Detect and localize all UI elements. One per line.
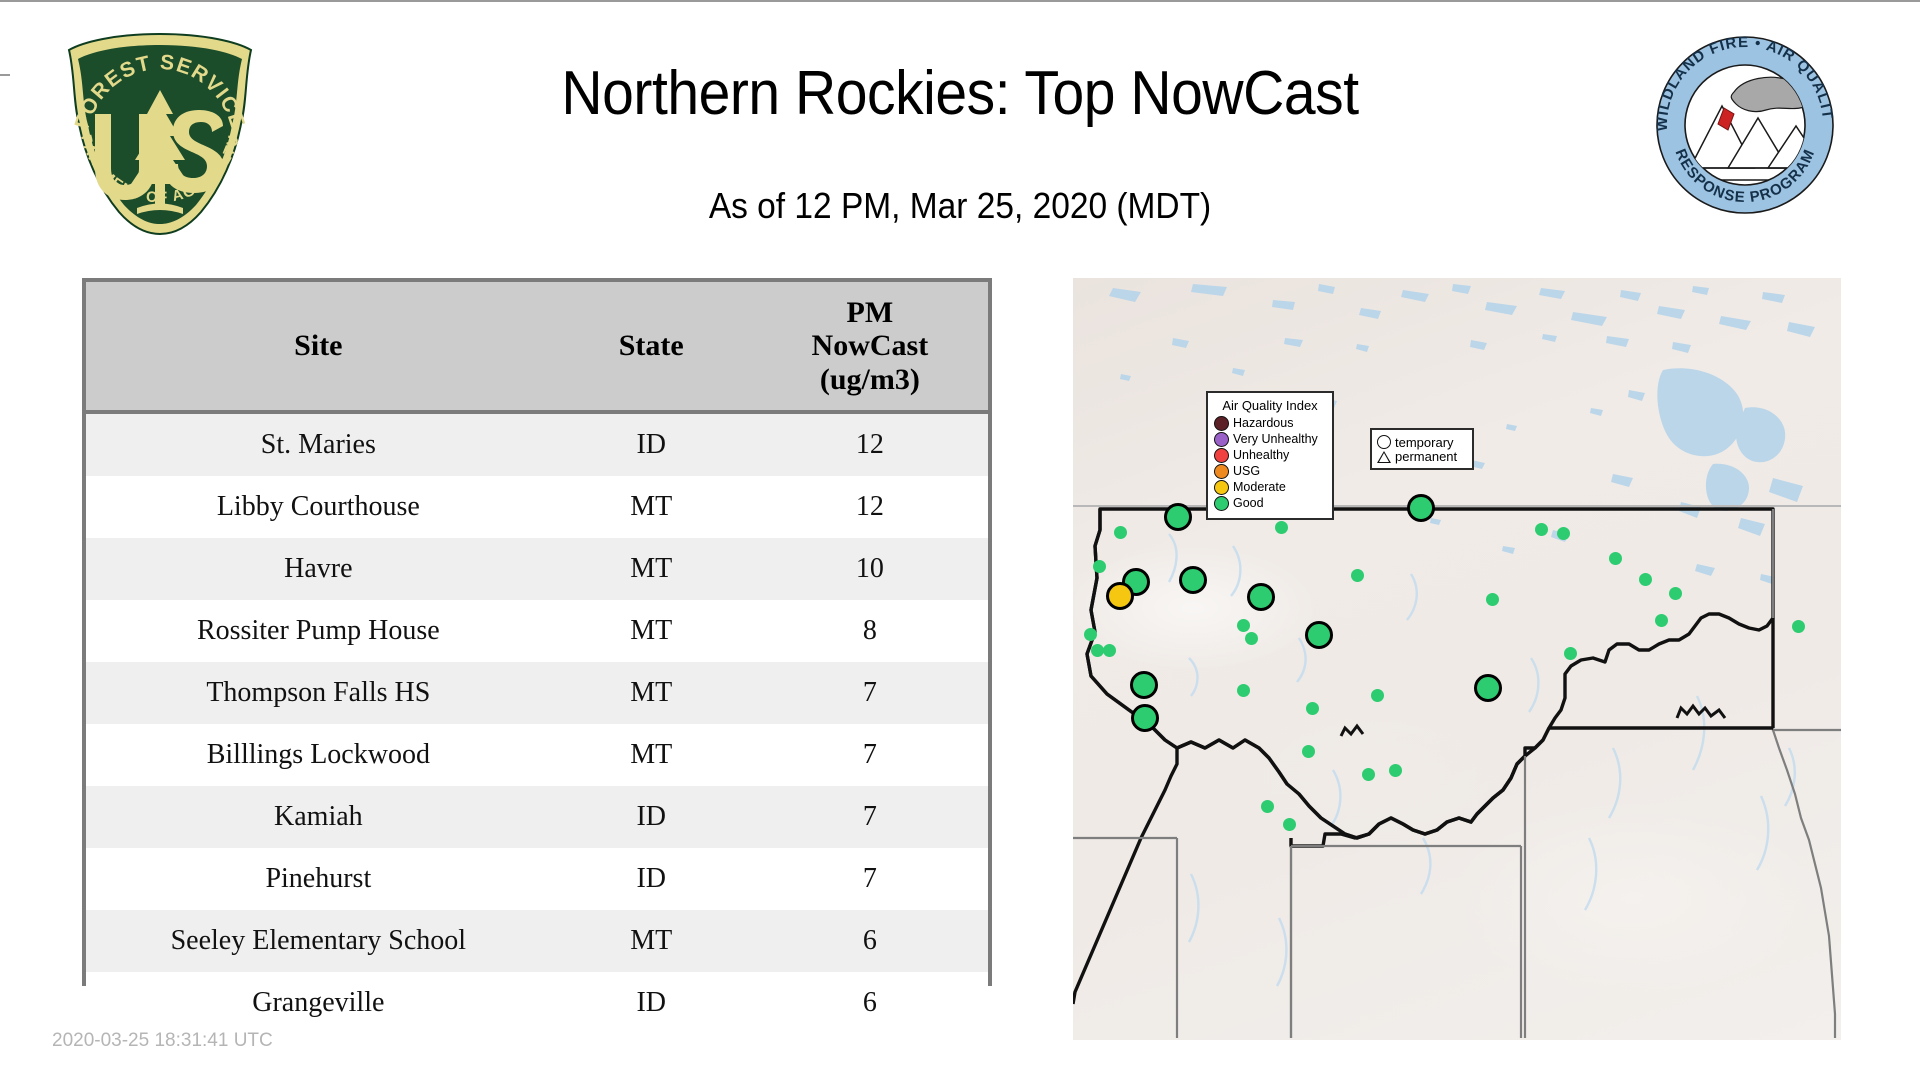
table-row: Billlings LockwoodMT7 <box>86 724 988 786</box>
table-row: PinehurstID7 <box>86 848 988 910</box>
temporary-monitor-icon <box>1377 435 1391 449</box>
cell-state: MT <box>551 662 752 724</box>
table-row: Rossiter Pump HouseMT8 <box>86 600 988 662</box>
monitor-marker[interactable] <box>1247 583 1275 611</box>
monitor-marker[interactable] <box>1407 494 1435 522</box>
column-header-state: State <box>551 282 752 412</box>
aqi-legend-item: Unhealthy <box>1214 448 1326 463</box>
monitor-marker[interactable] <box>1351 569 1364 582</box>
monitor-marker[interactable] <box>1306 702 1319 715</box>
cell-state: MT <box>551 476 752 538</box>
map-geography-layer <box>1073 278 1841 1040</box>
cell-site: Thompson Falls HS <box>86 662 551 724</box>
cell-pm: 8 <box>752 600 988 662</box>
monitor-marker[interactable] <box>1655 614 1668 627</box>
cell-state: ID <box>551 786 752 848</box>
monitor-marker[interactable] <box>1389 764 1402 777</box>
aqi-legend-label: Moderate <box>1233 481 1286 494</box>
monitor-marker[interactable] <box>1535 523 1548 536</box>
monitor-marker[interactable] <box>1131 704 1159 732</box>
monitor-marker[interactable] <box>1474 674 1502 702</box>
monitor-marker[interactable] <box>1305 621 1333 649</box>
page-title: Northern Rockies: Top NowCast <box>353 58 1567 129</box>
aqi-swatch-icon <box>1214 448 1229 463</box>
aqi-legend: Air Quality Index HazardousVery Unhealth… <box>1206 391 1334 520</box>
cell-pm: 6 <box>752 972 988 1034</box>
monitor-marker[interactable] <box>1486 593 1499 606</box>
aqi-legend-title: Air Quality Index <box>1214 398 1326 413</box>
aqi-swatch-icon <box>1214 464 1229 479</box>
cell-pm: 7 <box>752 724 988 786</box>
monitor-marker[interactable] <box>1091 644 1104 657</box>
air-quality-map[interactable]: Air Quality Index HazardousVery Unhealth… <box>1073 278 1841 1040</box>
monitor-marker[interactable] <box>1093 560 1106 573</box>
monitor-marker[interactable] <box>1609 552 1622 565</box>
legend-temporary-row: temporary <box>1377 435 1467 449</box>
cell-site: Kamiah <box>86 786 551 848</box>
monitor-marker[interactable] <box>1362 768 1375 781</box>
cell-pm: 7 <box>752 662 988 724</box>
table-row: Libby CourthouseMT12 <box>86 476 988 538</box>
cell-site: Grangeville <box>86 972 551 1034</box>
aqi-legend-item: USG <box>1214 464 1326 479</box>
cell-state: ID <box>551 412 752 476</box>
legend-permanent-row: permanent <box>1377 450 1467 463</box>
cell-site: Billlings Lockwood <box>86 724 551 786</box>
cell-pm: 6 <box>752 910 988 972</box>
table-body: St. MariesID12Libby CourthouseMT12HavreM… <box>86 412 988 1034</box>
aqi-legend-label: Hazardous <box>1233 417 1293 430</box>
aqi-legend-label: USG <box>1233 465 1260 478</box>
monitor-marker[interactable] <box>1669 587 1682 600</box>
monitor-marker[interactable] <box>1275 521 1288 534</box>
monitor-marker[interactable] <box>1130 671 1158 699</box>
aqi-legend-label: Very Unhealthy <box>1233 433 1318 446</box>
monitor-marker[interactable] <box>1302 745 1315 758</box>
cell-state: ID <box>551 848 752 910</box>
aqi-legend-item: Hazardous <box>1214 416 1326 431</box>
aqi-swatch-icon <box>1214 496 1229 511</box>
monitor-marker[interactable] <box>1179 566 1207 594</box>
aqi-legend-label: Good <box>1233 497 1264 510</box>
cell-site: Havre <box>86 538 551 600</box>
permanent-monitor-icon <box>1377 451 1391 463</box>
aqi-legend-rows: HazardousVery UnhealthyUnhealthyUSGModer… <box>1214 416 1326 511</box>
monitor-marker[interactable] <box>1237 684 1250 697</box>
cell-state: MT <box>551 724 752 786</box>
column-header-pm-line3: (ug/m3) <box>756 363 984 397</box>
column-header-pm-nowcast: PM NowCast (ug/m3) <box>752 282 988 412</box>
cell-site: Seeley Elementary School <box>86 910 551 972</box>
monitor-marker[interactable] <box>1084 628 1097 641</box>
monitor-marker[interactable] <box>1639 573 1652 586</box>
legend-permanent-label: permanent <box>1395 450 1457 463</box>
column-header-pm-line2: NowCast <box>756 329 984 363</box>
cell-site: St. Maries <box>86 412 551 476</box>
aqi-legend-item: Very Unhealthy <box>1214 432 1326 447</box>
table-header-row: Site State PM NowCast (ug/m3) <box>86 282 988 412</box>
monitor-marker[interactable] <box>1371 689 1384 702</box>
cell-site: Pinehurst <box>86 848 551 910</box>
cell-state: MT <box>551 600 752 662</box>
monitor-marker[interactable] <box>1792 620 1805 633</box>
table-row: HavreMT10 <box>86 538 988 600</box>
column-header-pm-line1: PM <box>756 296 984 330</box>
monitor-marker[interactable] <box>1261 800 1274 813</box>
usfs-shield-logo: FOREST SERVICE DEPARTMENT OF AGRICULTURE <box>55 28 265 238</box>
monitor-type-legend: temporary permanent <box>1370 428 1474 470</box>
cell-pm: 12 <box>752 476 988 538</box>
monitor-marker[interactable] <box>1283 818 1296 831</box>
table-row: St. MariesID12 <box>86 412 988 476</box>
top-nowcast-table: Site State PM NowCast (ug/m3) St. Maries… <box>82 278 992 986</box>
aqi-legend-item: Moderate <box>1214 480 1326 495</box>
cell-state: ID <box>551 972 752 1034</box>
generation-timestamp: 2020-03-25 18:31:41 UTC <box>52 1030 273 1052</box>
cell-pm: 10 <box>752 538 988 600</box>
legend-temporary-label: temporary <box>1395 436 1454 449</box>
monitor-marker[interactable] <box>1164 503 1192 531</box>
monitor-marker[interactable] <box>1114 526 1127 539</box>
cell-state: MT <box>551 538 752 600</box>
monitor-marker[interactable] <box>1106 582 1134 610</box>
column-header-site: Site <box>86 282 551 412</box>
cell-site: Libby Courthouse <box>86 476 551 538</box>
table-row: Seeley Elementary SchoolMT6 <box>86 910 988 972</box>
monitor-marker[interactable] <box>1245 632 1258 645</box>
aqi-swatch-icon <box>1214 432 1229 447</box>
monitor-marker[interactable] <box>1237 619 1250 632</box>
monitor-marker[interactable] <box>1103 644 1116 657</box>
aqi-swatch-icon <box>1214 416 1229 431</box>
table-row: GrangevilleID6 <box>86 972 988 1034</box>
cell-pm: 7 <box>752 786 988 848</box>
aqi-legend-label: Unhealthy <box>1233 449 1289 462</box>
monitor-marker[interactable] <box>1564 647 1577 660</box>
cell-site: Rossiter Pump House <box>86 600 551 662</box>
cell-pm: 12 <box>752 412 988 476</box>
page-subtitle: As of 12 PM, Mar 25, 2020 (MDT) <box>346 185 1574 227</box>
wfaqrp-logo: WILDLAND FIRE • AIR QUALITY RESPONSE PRO… <box>1650 30 1840 220</box>
aqi-legend-item: Good <box>1214 496 1326 511</box>
table-row: Thompson Falls HSMT7 <box>86 662 988 724</box>
page-header: FOREST SERVICE DEPARTMENT OF AGRICULTURE… <box>0 0 1920 268</box>
cell-state: MT <box>551 910 752 972</box>
monitor-marker[interactable] <box>1557 527 1570 540</box>
cell-pm: 7 <box>752 848 988 910</box>
table-row: KamiahID7 <box>86 786 988 848</box>
aqi-swatch-icon <box>1214 480 1229 495</box>
